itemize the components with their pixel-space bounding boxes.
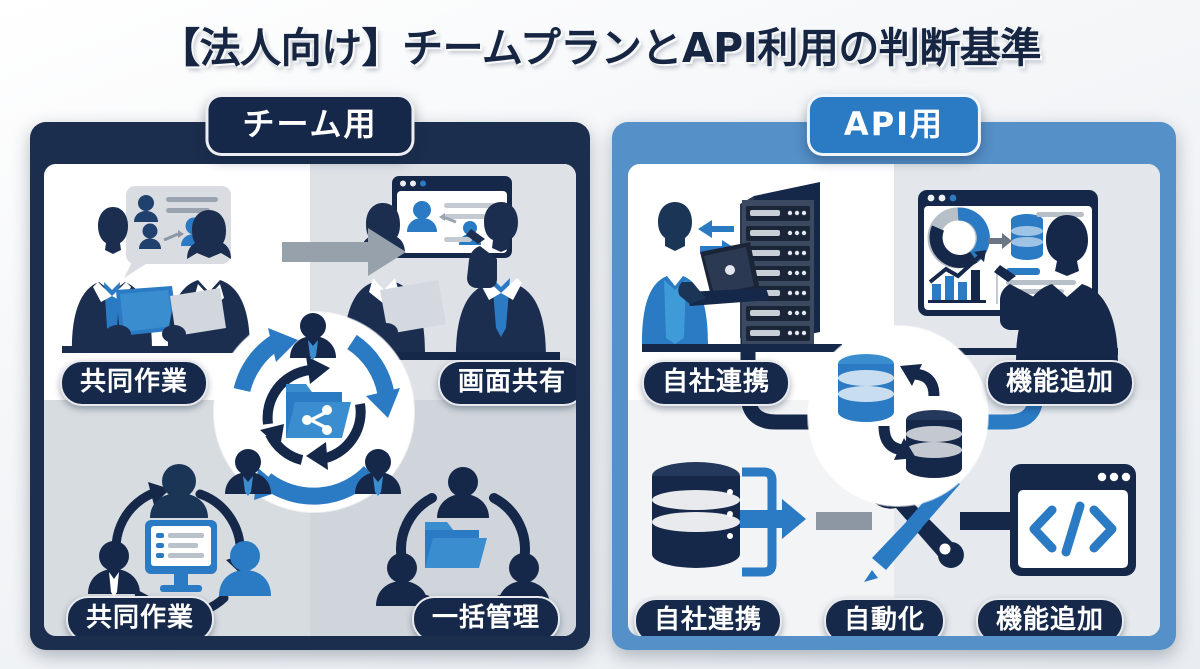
panel-team: チーム用 <box>30 122 590 650</box>
panel-api-content: 自社連携 機能追加 自社連携 自動化 機能追加 <box>628 164 1160 636</box>
person-icon-top <box>437 467 489 518</box>
label-api-top-left: 自社連携 <box>642 360 790 406</box>
label-team-bottom-right: 一括管理 <box>412 596 560 636</box>
label-team-top-right: 画面共有 <box>438 360 576 406</box>
label-team-bottom-left: 共同作業 <box>66 596 214 636</box>
page-title: 【法人向け】チームプランとAPI利用の判断基準 <box>159 14 1041 74</box>
panel-team-badge: チーム用 <box>205 94 414 156</box>
shared-folder-icon <box>425 522 487 568</box>
person-icon-top <box>290 313 336 360</box>
code-window-icon <box>1006 460 1142 584</box>
database-sync-hub-illustration <box>808 326 988 506</box>
label-api-bottom-left: 自社連携 <box>634 598 782 636</box>
label-team-top-left: 共同作業 <box>60 360 208 406</box>
database-icon-blue <box>838 354 894 422</box>
panel-api: API用 <box>612 122 1176 650</box>
person-icon-right <box>219 541 271 596</box>
monitor-icon <box>145 520 217 592</box>
person-icon-left <box>88 541 140 597</box>
grey-arrow-right-icon <box>282 226 408 282</box>
database-icon-navy <box>906 410 962 478</box>
person-icon-bottom-left <box>376 553 428 606</box>
database-stack-icon <box>644 460 764 590</box>
panel-api-badge: API用 <box>807 94 981 156</box>
person-icon-bottom-left <box>225 449 271 496</box>
title-bar: 【法人向け】チームプランとAPI利用の判断基準 <box>0 14 1200 74</box>
label-api-bottom-center: 自動化 <box>824 598 945 636</box>
shared-folder-cycle-hub-illustration <box>214 312 414 512</box>
label-api-bottom-right: 機能追加 <box>976 598 1124 636</box>
panel-team-content: 共同作業 画面共有 共同作業 一括管理 <box>44 164 576 636</box>
label-api-top-right: 機能追加 <box>986 360 1134 406</box>
database-icon <box>1011 214 1043 260</box>
share-folder-icon <box>286 384 351 438</box>
